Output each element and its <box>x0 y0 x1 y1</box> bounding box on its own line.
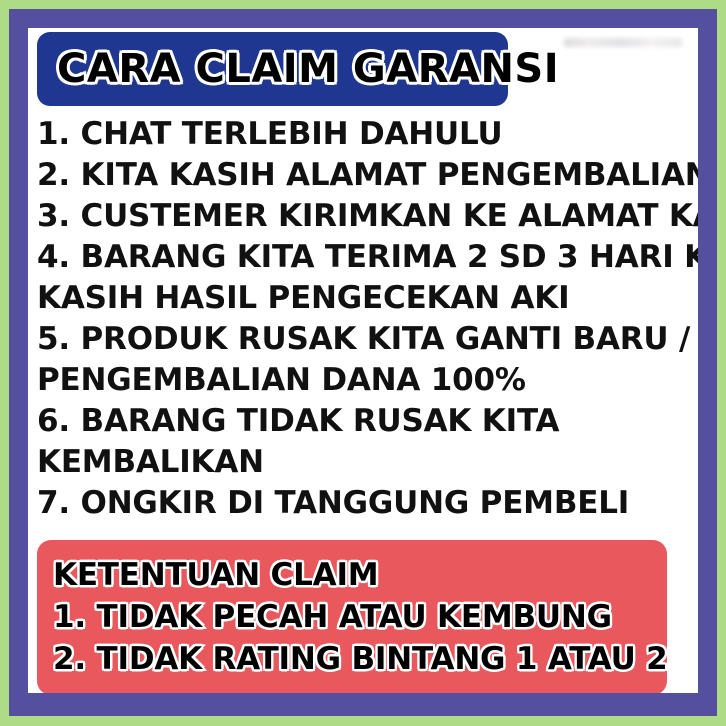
blurred-watermark-icon <box>564 38 682 47</box>
page-title: CARA CLAIM GARANSI <box>57 46 559 92</box>
title-banner: CARA CLAIM GARANSI <box>37 32 508 106</box>
step-line: PENGEMBALIAN DANA 100% <box>37 360 694 401</box>
terms-line: 1. TIDAK PECAH ATAU KEMBUNG <box>53 596 667 638</box>
terms-heading: KETENTUAN CLAIM <box>53 554 667 596</box>
step-line: 4. BARANG KITA TERIMA 2 SD 3 HARI KITA <box>37 237 694 278</box>
content-sheet: CARA CLAIM GARANSI 1. CHAT TERLEBIH DAHU… <box>28 28 698 693</box>
step-line: 6. BARANG TIDAK RUSAK KITA <box>37 401 694 442</box>
step-line: 7. ONGKIR DI TANGGUNG PEMBELI <box>37 483 694 524</box>
step-line: KASIH HASIL PENGECEKAN AKI <box>37 278 694 319</box>
step-line: 5. PRODUK RUSAK KITA GANTI BARU / <box>37 319 694 360</box>
claim-steps-list: 1. CHAT TERLEBIH DAHULU 2. KITA KASIH AL… <box>37 114 694 524</box>
step-line: KEMBALIKAN <box>37 442 694 483</box>
terms-line: 2. TIDAK RATING BINTANG 1 ATAU 2 <box>53 638 667 680</box>
step-line: 1. CHAT TERLEBIH DAHULU <box>37 114 694 155</box>
step-line: 3. CUSTEMER KIRIMKAN KE ALAMAT KAMI <box>37 196 694 237</box>
claim-terms-box: KETENTUAN CLAIM 1. TIDAK PECAH ATAU KEMB… <box>37 540 667 693</box>
inner-purple-border: CARA CLAIM GARANSI 1. CHAT TERLEBIH DAHU… <box>9 9 717 716</box>
step-line: 2. KITA KASIH ALAMAT PENGEMBALIAN <box>37 155 694 196</box>
warranty-claim-poster: CARA CLAIM GARANSI 1. CHAT TERLEBIH DAHU… <box>0 0 726 726</box>
